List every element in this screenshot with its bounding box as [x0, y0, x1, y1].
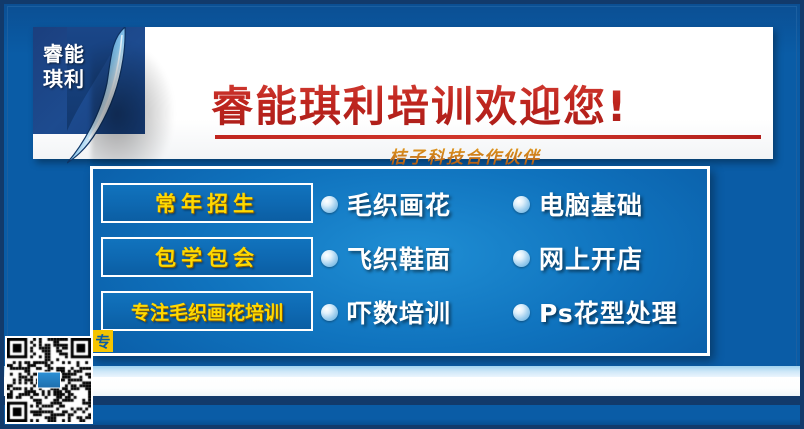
badge-item-2[interactable]: 专注毛织画花培训 [101, 291, 313, 331]
bullet-sphere-icon [513, 196, 530, 213]
badge-label: 专注毛织画花培训 [131, 298, 283, 325]
badge-item-1[interactable]: 包学包会 [101, 237, 313, 277]
badge-item-0[interactable]: 常年招生 [101, 183, 313, 223]
page-title: 睿能琪利培训欢迎您! [211, 73, 781, 134]
list-item[interactable]: 飞织鞋面 [321, 237, 511, 279]
band-white [4, 377, 800, 396]
course-label: 网上开店 [539, 240, 643, 276]
qr-code[interactable] [5, 336, 93, 424]
bullet-sphere-icon [513, 250, 530, 267]
bullet-sphere-icon [321, 304, 338, 321]
list-item[interactable]: 网上开店 [513, 237, 713, 279]
badge-label: 常年招生 [155, 188, 259, 218]
course-label: Ps花型处理 [539, 294, 678, 330]
band-navy [4, 396, 800, 405]
content-panel: 常年招生 包学包会 专注毛织画花培训 毛织画花 飞织鞋面 吓数培训 [90, 166, 710, 356]
course-column-left: 毛织画花 飞织鞋面 吓数培训 [321, 183, 511, 345]
bullet-sphere-icon [321, 250, 338, 267]
course-label: 电脑基础 [539, 186, 643, 222]
course-label: 飞织鞋面 [347, 240, 451, 276]
logo-block: 睿能 琪利 [33, 27, 145, 134]
bullet-sphere-icon [321, 196, 338, 213]
poster-root: 睿能 琪利 [0, 0, 804, 429]
band-light-blue [4, 366, 800, 377]
badge-column: 常年招生 包学包会 专注毛织画花培训 [101, 183, 313, 345]
logo-text: 睿能 琪利 [43, 42, 85, 92]
list-item[interactable]: Ps花型处理 [513, 291, 713, 333]
header-card: 睿能 琪利 [33, 27, 773, 159]
badge-label: 包学包会 [155, 242, 259, 272]
list-item[interactable]: 吓数培训 [321, 291, 511, 333]
course-label: 吓数培训 [347, 294, 451, 330]
yellow-mark: 专 [93, 330, 113, 352]
list-item[interactable]: 毛织画花 [321, 183, 511, 225]
course-label: 毛织画花 [347, 186, 451, 222]
list-item[interactable]: 电脑基础 [513, 183, 713, 225]
course-column-right: 电脑基础 网上开店 Ps花型处理 [513, 183, 713, 345]
subtitle-chinese: 桔子科技合作伙伴 [389, 143, 541, 168]
title-underline [215, 135, 761, 139]
band-bottom-blue [4, 405, 800, 425]
bullet-sphere-icon [513, 304, 530, 321]
qr-center-badge [37, 372, 61, 389]
